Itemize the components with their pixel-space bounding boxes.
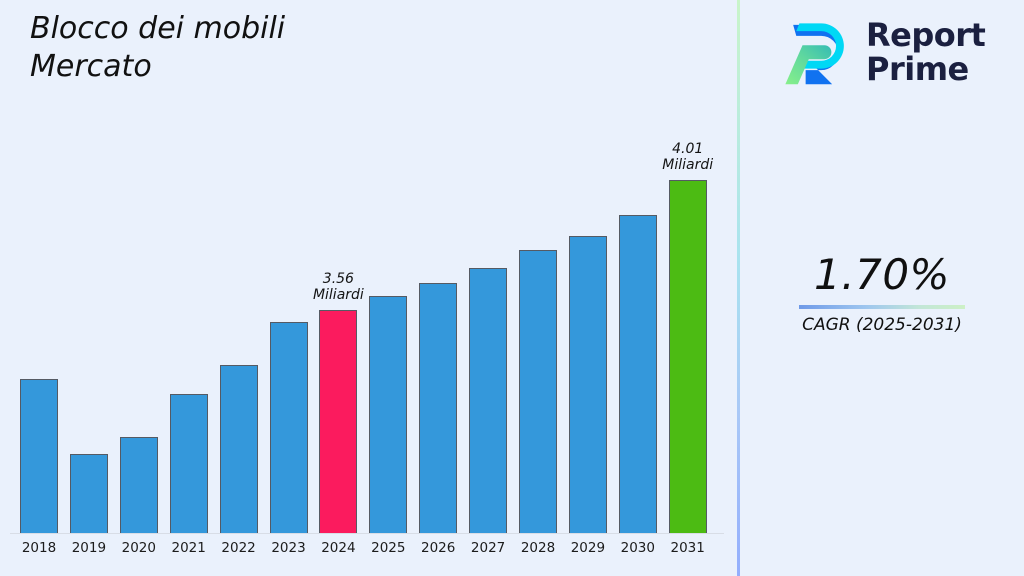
bar-slot — [70, 454, 108, 533]
x-axis-line — [10, 533, 724, 534]
cagr-block: 1.70% CAGR (2025-2031) — [740, 252, 1024, 335]
bar-slot — [20, 379, 58, 533]
bar-2031[interactable] — [669, 180, 707, 533]
chart-screenshot-root: Blocco dei mobili Mercato 3.56 Miliardi4… — [0, 0, 1024, 576]
chart-panel: Blocco dei mobili Mercato 3.56 Miliardi4… — [0, 0, 738, 576]
bar-2026[interactable] — [419, 283, 457, 533]
bar-slot: 4.01 Miliardi — [669, 180, 707, 533]
bar-2021[interactable] — [170, 394, 208, 533]
bar-2019[interactable] — [70, 454, 108, 533]
brand-panel: Report Prime 1.70% CAGR (2025-2031) — [740, 0, 1024, 576]
x-axis-tick-labels: 2018201920202021202220232024202520262027… — [0, 540, 738, 568]
bar-2027[interactable] — [469, 268, 507, 533]
bar-2018[interactable] — [20, 379, 58, 533]
bar-2024[interactable] — [319, 310, 357, 533]
bar-slot: 3.56 Miliardi — [319, 310, 357, 533]
cagr-caption: CAGR (2025-2031) — [740, 315, 1024, 335]
bar-slot — [469, 268, 507, 533]
bar-slot — [120, 437, 158, 533]
bar-2022[interactable] — [220, 365, 258, 533]
bar-slot — [569, 236, 607, 533]
bar-slot — [619, 215, 657, 533]
bar-slot — [369, 296, 407, 533]
report-prime-logo-icon — [776, 14, 854, 92]
plot-area: 3.56 Miliardi4.01 Miliardi — [0, 120, 738, 534]
bar-2030[interactable] — [619, 215, 657, 533]
bar-2028[interactable] — [519, 250, 557, 533]
x-tick-2031: 2031 — [653, 540, 723, 556]
bar-value-label-2031: 4.01 Miliardi — [623, 141, 753, 174]
cagr-value: 1.70% — [740, 252, 1024, 298]
bar-slot — [519, 250, 557, 533]
bar-2029[interactable] — [569, 236, 607, 533]
bar-slot — [170, 394, 208, 533]
cagr-divider — [799, 305, 965, 309]
bar-2023[interactable] — [270, 322, 308, 533]
bar-slot — [220, 365, 258, 533]
bar-slot — [270, 322, 308, 533]
bar-slot — [419, 283, 457, 533]
bar-2020[interactable] — [120, 437, 158, 533]
brand-wordmark: Report Prime — [866, 19, 985, 87]
bar-2025[interactable] — [369, 296, 407, 533]
chart-title: Blocco dei mobili Mercato — [30, 10, 670, 87]
brand-logo: Report Prime — [776, 14, 985, 92]
